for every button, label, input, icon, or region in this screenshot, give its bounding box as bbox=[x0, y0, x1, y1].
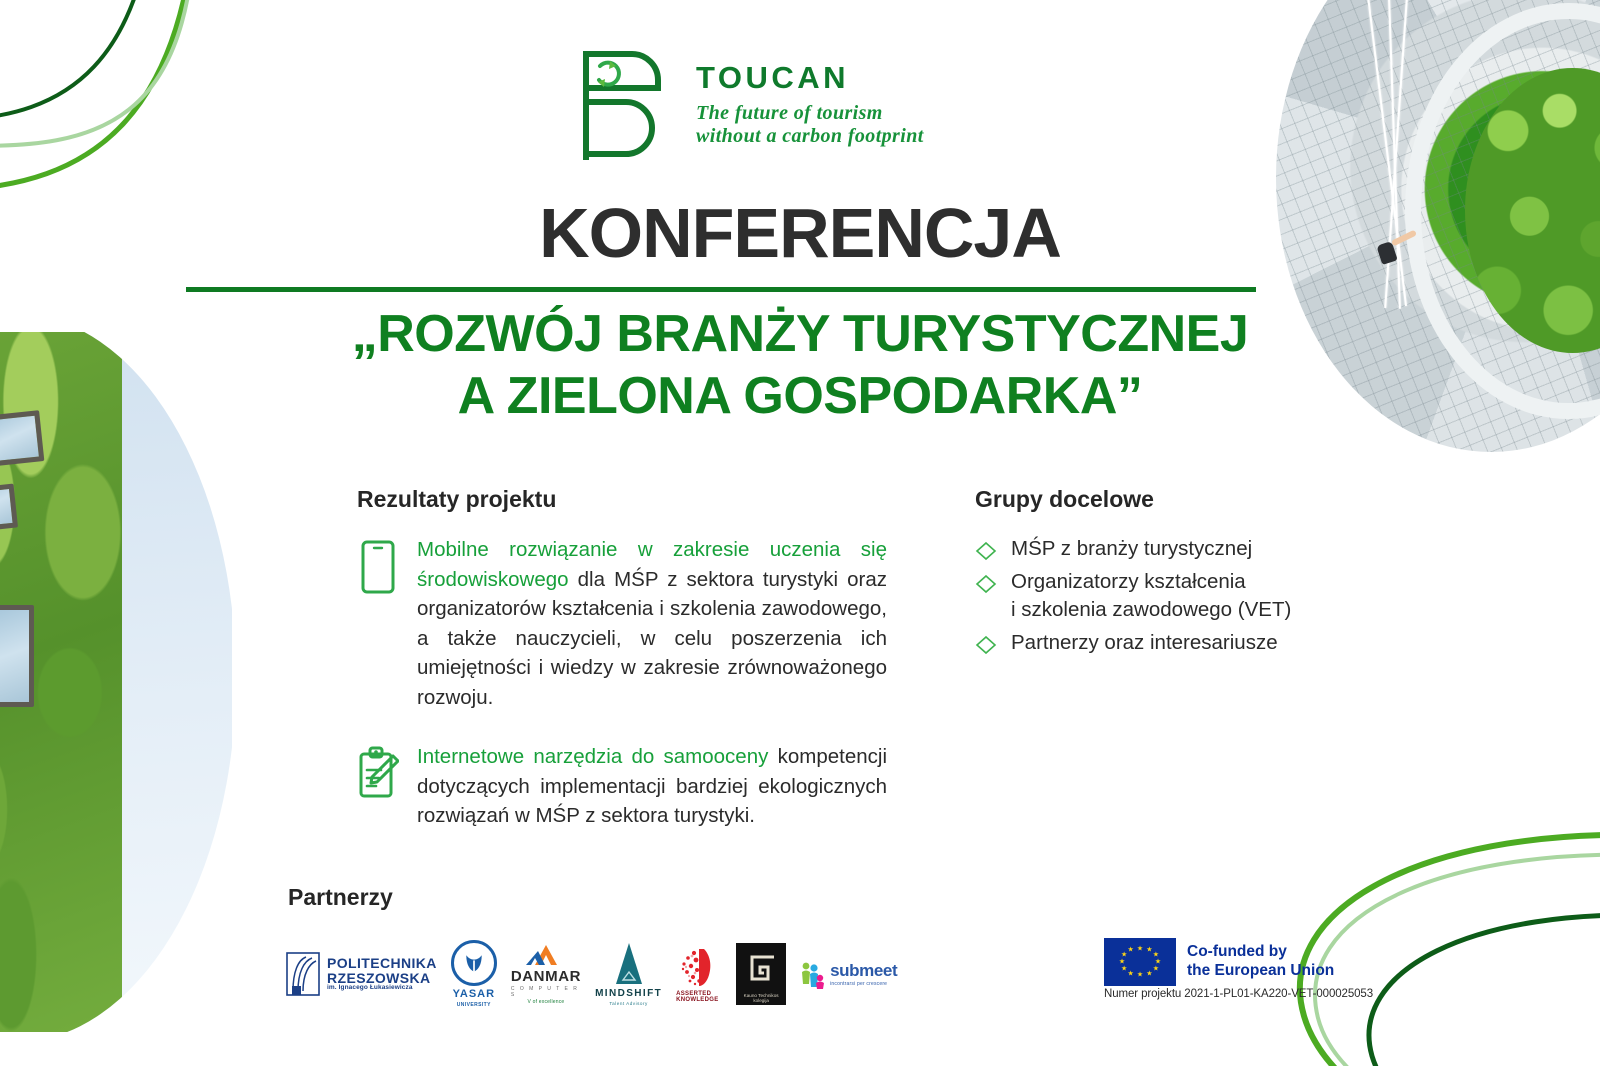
diamond-bullet-icon bbox=[975, 634, 997, 656]
toucan-logo: TOUCAN The future of tourism without a c… bbox=[556, 46, 956, 168]
partner-name-line2: Kauno Technikos kolegija bbox=[736, 993, 786, 1005]
target-groups-section-title: Grupy docelowe bbox=[975, 486, 1305, 513]
politechnika-mark-icon bbox=[286, 952, 320, 996]
partners-section-title: Partnerzy bbox=[288, 884, 393, 911]
partner-name-line1: DANMAR bbox=[511, 968, 581, 985]
list-item: MŚP z branży turystycznej bbox=[975, 535, 1305, 563]
partner-logo-gk-kauno: Kauno Technikos kolegija bbox=[736, 938, 786, 1010]
result-item: Internetowe narzędzia do samooceny kompe… bbox=[357, 742, 887, 831]
result-item-highlight: Internetowe narzędzia do samooceny bbox=[417, 745, 768, 768]
target-groups-section: Grupy docelowe MŚP z branży turystycznej… bbox=[975, 486, 1305, 662]
partner-name-line2: incontrarsi per crescere bbox=[830, 981, 897, 987]
clipboard-pencil-icon bbox=[357, 746, 399, 802]
submeet-people-icon bbox=[800, 959, 826, 989]
result-item: Mobilne rozwiązanie w zakresie uczenia s… bbox=[357, 535, 887, 712]
title-divider bbox=[186, 287, 1256, 292]
partner-logo-politechnika-rzeszowska: POLITECHNIKA RZESZOWSKA im. Ignacego Łuk… bbox=[286, 938, 437, 1010]
gk-monogram-icon bbox=[736, 943, 786, 993]
danmar-peak-icon bbox=[525, 943, 567, 967]
diamond-bullet-icon bbox=[975, 573, 997, 595]
partner-name-line1: YASAR bbox=[453, 988, 496, 1000]
partner-name-line2: UNIVERSITY bbox=[457, 1002, 491, 1008]
page-title: „ROZWÓJ BRANŻY TURYSTYCZNEJ A ZIELONA GO… bbox=[0, 303, 1600, 427]
logo-tagline-line2: without a carbon footprint bbox=[696, 125, 958, 148]
partner-name-line1: POLITECHNIKA bbox=[327, 956, 437, 970]
partner-name-line3: im. Ignacego Łukasiewicza bbox=[327, 985, 437, 992]
page-title-line1: „ROZWÓJ BRANŻY TURYSTYCZNEJ bbox=[0, 303, 1600, 365]
target-group-label: Partnerzy oraz interesariusze bbox=[1011, 629, 1278, 657]
partner-name-line2: Talent Advisory bbox=[609, 1001, 647, 1006]
partner-logo-strip: POLITECHNIKA RZESZOWSKA im. Ignacego Łuk… bbox=[286, 930, 886, 1010]
partner-name-line2: C O M P U T E R S bbox=[511, 986, 581, 998]
decorative-swirl-bottom-right bbox=[1200, 766, 1600, 1066]
target-group-label: MŚP z branży turystycznej bbox=[1011, 535, 1252, 563]
target-groups-list: MŚP z branży turystycznej Organizatorzy … bbox=[975, 535, 1305, 662]
partner-logo-danmar-computers: DANMAR C O M P U T E R S V of excellence bbox=[511, 938, 581, 1010]
target-group-label: Organizatorzy kształcenia i szkolenia za… bbox=[1011, 568, 1291, 624]
photo-green-facade-building bbox=[0, 332, 232, 1032]
partner-logo-asserted-knowledge: ASSERTED KNOWLEDGE bbox=[676, 938, 722, 1010]
partner-name-line1: submeet bbox=[830, 961, 897, 981]
asserted-knowledge-head-icon bbox=[676, 945, 722, 989]
mobile-phone-icon bbox=[357, 539, 399, 595]
result-item-text: Mobilne rozwiązanie w zakresie uczenia s… bbox=[417, 535, 887, 712]
logo-tagline-line1: The future of tourism bbox=[696, 102, 958, 125]
page-kicker: KONFERENCJA bbox=[0, 193, 1600, 273]
partner-name-line2: RZESZOWSKA bbox=[327, 971, 437, 985]
logo-wordmark: TOUCAN bbox=[696, 60, 849, 96]
eu-funding-badge: ★ ★ ★ ★ ★ ★ ★ ★ ★ ★ ★ ★ Co-funded by the… bbox=[1104, 938, 1334, 986]
logo-tagline: The future of tourism without a carbon f… bbox=[696, 102, 958, 148]
list-item: Partnerzy oraz interesariusze bbox=[975, 629, 1305, 657]
mindshift-triangle-icon bbox=[611, 942, 647, 986]
partner-name-line3: V of excellence bbox=[527, 999, 564, 1005]
diamond-bullet-icon bbox=[975, 540, 997, 562]
partner-name-line1: ASSERTED KNOWLEDGE bbox=[676, 991, 722, 1003]
partner-logo-yasar-university: YASAR UNIVERSITY bbox=[451, 938, 497, 1010]
partner-name-line1: MINDSHIFT bbox=[595, 988, 662, 999]
eu-badge-line1: Co-funded by bbox=[1187, 943, 1334, 962]
page-title-line2: A ZIELONA GOSPODARKA” bbox=[0, 365, 1600, 427]
eu-badge-line2: the European Union bbox=[1187, 962, 1334, 981]
results-section: Rezultaty projektu Mobilne rozwiązanie w… bbox=[357, 486, 887, 861]
eu-flag-icon: ★ ★ ★ ★ ★ ★ ★ ★ ★ ★ ★ ★ bbox=[1104, 938, 1176, 986]
list-item: Organizatorzy kształcenia i szkolenia za… bbox=[975, 568, 1305, 624]
results-section-title: Rezultaty projektu bbox=[357, 486, 887, 513]
partner-logo-mindshift: MINDSHIFT Talent Advisory bbox=[595, 938, 662, 1010]
result-item-text: Internetowe narzędzia do samooceny kompe… bbox=[417, 742, 887, 831]
conference-poster: TOUCAN The future of tourism without a c… bbox=[0, 0, 1600, 1066]
project-number: Numer projektu 2021-1-PL01-KA220-VET-000… bbox=[1104, 988, 1373, 1000]
partner-logo-submeet: submeet incontrarsi per crescere bbox=[800, 938, 897, 1010]
yasar-emblem-icon bbox=[451, 940, 497, 986]
toucan-bird-icon bbox=[556, 46, 676, 168]
